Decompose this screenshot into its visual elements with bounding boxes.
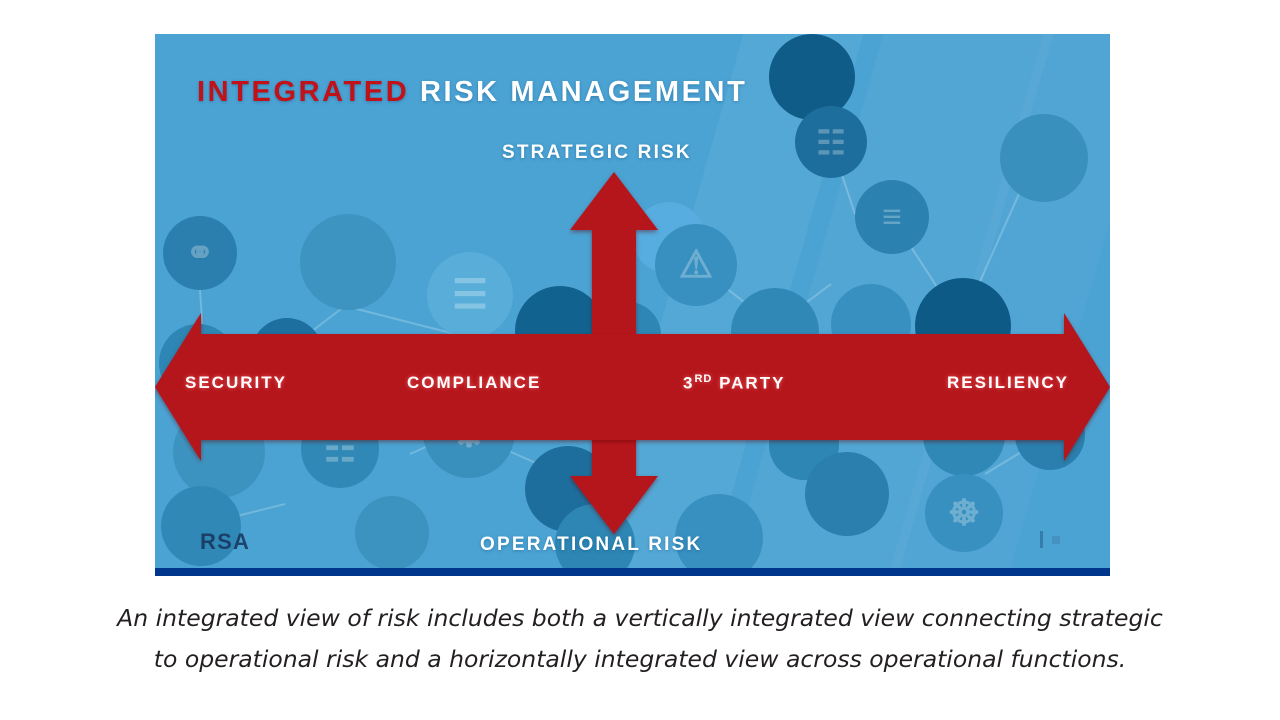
page-root: ⚭⚖☷☰⚙⚠☷≡⚭☸ INTEGRATED RISK MANAGEMEN [0,0,1280,720]
caption-line-2: to operational risk and a horizontally i… [0,639,1280,680]
corner-watermark-square [1052,536,1060,544]
third-party-ordinal-suffix: RD [694,373,712,385]
slide-canvas: ⚭⚖☷☰⚙⚠☷≡⚭☸ INTEGRATED RISK MANAGEMEN [155,34,1110,576]
slide-artwork: ⚭⚖☷☰⚙⚠☷≡⚭☸ INTEGRATED RISK MANAGEMEN [155,34,1110,568]
title-rest: RISK MANAGEMENT [409,76,747,108]
cross-arrows [155,34,1110,568]
label-third-party: 3RD PARTY [683,373,785,394]
corner-watermark-bar [1040,531,1043,548]
third-party-numeral: 3 [683,374,694,393]
caption-line-1: An integrated view of risk includes both… [0,598,1280,639]
slide-accent-bar [155,568,1110,576]
label-security: SECURITY [185,373,287,393]
slide-image: ⚭⚖☷☰⚙⚠☷≡⚭☸ INTEGRATED RISK MANAGEMEN [155,34,1110,576]
label-strategic-risk: STRATEGIC RISK [502,142,692,164]
label-resiliency: RESILIENCY [947,373,1069,393]
corner-watermark-icon [1040,531,1060,548]
page-title: INTEGRATED RISK MANAGEMENT [197,76,747,109]
third-party-word: PARTY [712,374,785,393]
label-compliance: COMPLIANCE [407,373,541,393]
rsa-logo: RSA [200,529,250,555]
title-highlight: INTEGRATED [197,76,409,108]
figure-caption: An integrated view of risk includes both… [0,598,1280,680]
label-operational-risk: OPERATIONAL RISK [480,534,702,556]
